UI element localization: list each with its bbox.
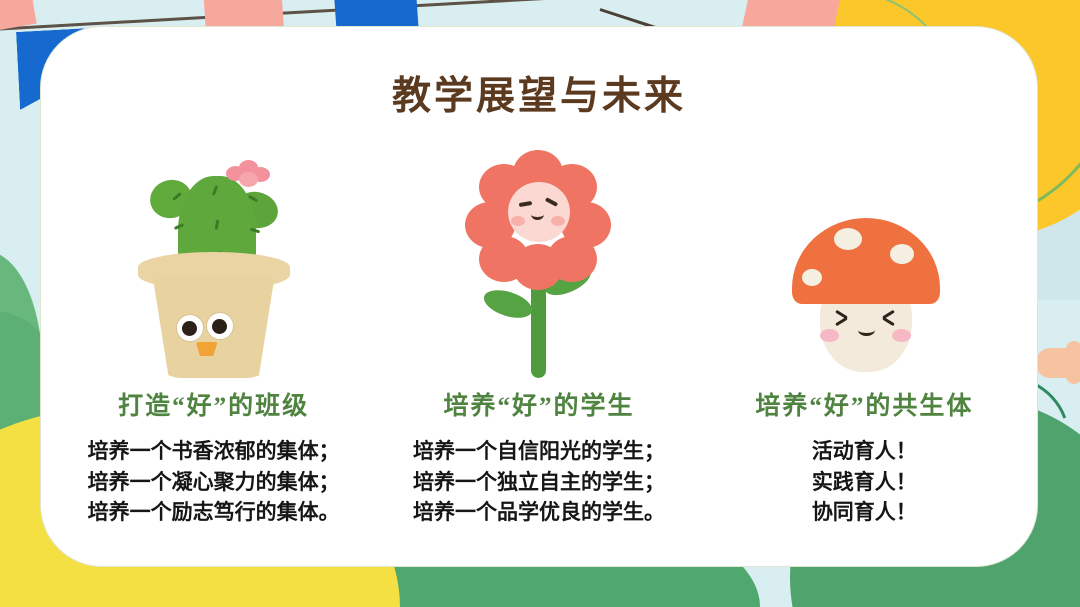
column-line: 培养一个自信阳光的学生； — [413, 436, 665, 467]
flower-cheek-left — [511, 216, 525, 226]
flower-art — [376, 123, 701, 378]
column-heading-symbiosis: 培养“好”的共生体 — [755, 386, 973, 422]
mushroom-art — [702, 123, 1027, 378]
flower-petal — [513, 244, 563, 290]
column-lines-symbiosis: 活动育人！ 实践育人！ 协同育人！ — [812, 436, 917, 528]
column-line: 培养一个品学优良的学生。 — [413, 497, 665, 528]
mushroom-eye-right — [880, 310, 896, 326]
flower-illustration — [439, 128, 639, 378]
mushroom-illustration — [764, 128, 964, 378]
column-line: 活动育人！ — [812, 436, 917, 467]
hand-illustration — [1036, 348, 1080, 378]
column-line: 培养一个励志笃行的集体。 — [88, 497, 340, 528]
slide-root: 教学展望与未来 — [0, 0, 1080, 607]
bunting-flag-pink-corner — [0, 0, 37, 36]
content-card: 教学展望与未来 — [40, 26, 1038, 567]
column-student: 培养“好”的学生 培养一个自信阳光的学生； 培养一个独立自主的学生； 培养一个品… — [376, 123, 701, 544]
cactus-flower-icon — [226, 160, 270, 188]
column-line: 培养一个凝心聚力的集体； — [88, 467, 340, 498]
cactus-art — [51, 123, 376, 378]
columns-container: 打造“好”的班级 培养一个书香浓郁的集体； 培养一个凝心聚力的集体； 培养一个励… — [51, 123, 1027, 544]
column-symbiosis: 培养“好”的共生体 活动育人！ 实践育人！ 协同育人！ — [702, 123, 1027, 544]
column-line: 培养一个独立自主的学生； — [413, 467, 665, 498]
column-class: 打造“好”的班级 培养一个书香浓郁的集体； 培养一个凝心聚力的集体； 培养一个励… — [51, 123, 376, 544]
mushroom-eye-left — [834, 310, 850, 326]
flower-leaf-left — [480, 285, 535, 323]
column-line: 培养一个书香浓郁的集体； — [88, 436, 340, 467]
pot-pupil-left — [182, 321, 197, 336]
column-heading-student: 培养“好”的学生 — [443, 386, 634, 422]
flower-cheek-right — [551, 216, 565, 226]
cactus-illustration — [114, 128, 314, 378]
column-line: 实践育人！ — [812, 467, 917, 498]
pot-pupil-right — [212, 319, 227, 334]
flower-petal — [239, 172, 258, 187]
page-title: 教学展望与未来 — [41, 65, 1037, 121]
column-line: 协同育人！ — [812, 497, 917, 528]
column-heading-class: 打造“好”的班级 — [118, 386, 309, 422]
column-lines-student: 培养一个自信阳光的学生； 培养一个独立自主的学生； 培养一个品学优良的学生。 — [413, 436, 665, 528]
flower-mouth — [531, 209, 544, 220]
column-lines-class: 培养一个书香浓郁的集体； 培养一个凝心聚力的集体； 培养一个励志笃行的集体。 — [88, 436, 340, 528]
mushroom-cap-icon — [792, 218, 940, 304]
